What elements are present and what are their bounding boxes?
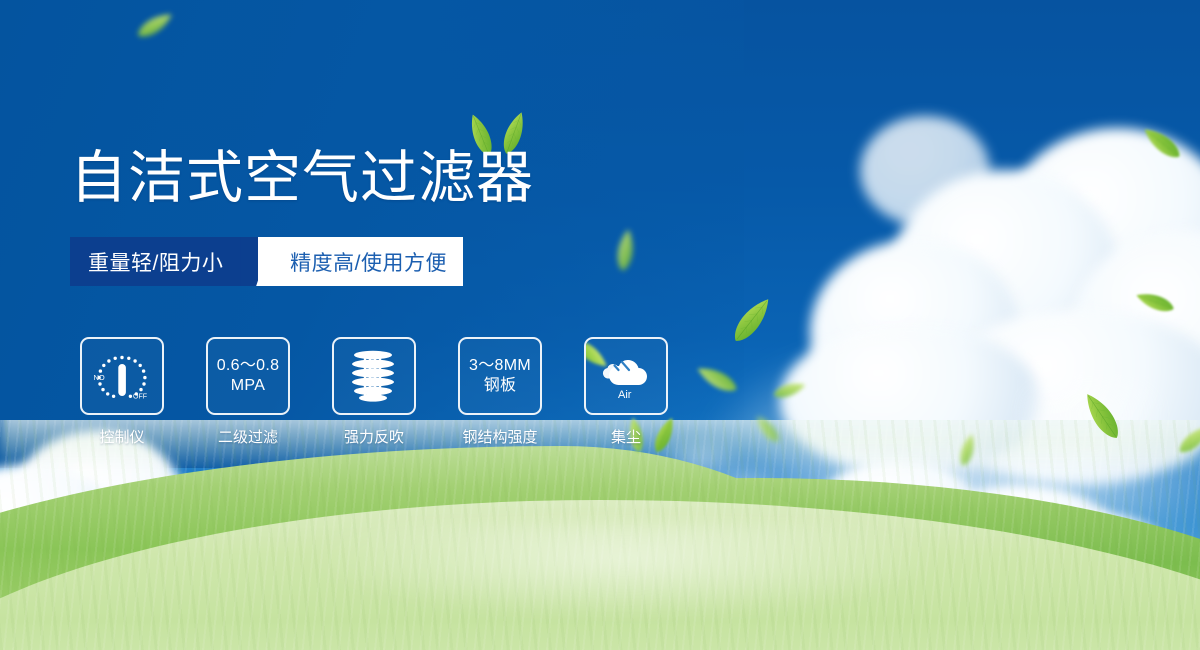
air-cloud-icon: Air	[595, 348, 657, 404]
feature-item-pressure[interactable]: 0.6〜0.8 MPA 二级过滤	[206, 337, 290, 447]
feature-icon-text-line1: 0.6〜0.8	[217, 356, 280, 376]
feature-icon-text-line2: MPA	[231, 376, 265, 396]
banner-content: 自洁式空气过滤器 重量轻/阻力小 精度高/使用方便	[0, 0, 1200, 650]
feature-item-blowback[interactable]: 强力反吹	[332, 337, 416, 447]
feature-item-control[interactable]: NO OFF 控制仪	[80, 337, 164, 447]
feature-icon-text-line1: 3〜8MM	[469, 356, 531, 376]
gauge-label-off: OFF	[133, 394, 147, 401]
feature-label: 强力反吹	[344, 426, 404, 447]
filter-cartridge-icon	[346, 347, 402, 405]
tagline-right-text: 精度高/使用方便	[290, 247, 447, 277]
feature-item-steel[interactable]: 3〜8MM 钢板 钢结构强度	[458, 337, 542, 447]
air-label: Air	[618, 389, 632, 401]
feature-item-dust[interactable]: Air 集尘	[584, 337, 668, 447]
page-title: 自洁式空气过滤器	[70, 147, 534, 209]
feature-label: 集尘	[611, 426, 641, 447]
gauge-icon: NO OFF	[90, 347, 154, 405]
gauge-label-no: NO	[94, 373, 105, 382]
feature-label: 二级过滤	[218, 426, 278, 447]
tagline-badge-left: 重量轻/阻力小	[70, 237, 258, 286]
feature-icon-box	[332, 337, 416, 415]
tagline-left-text: 重量轻/阻力小	[88, 247, 223, 277]
tagline-badge: 重量轻/阻力小 精度高/使用方便	[70, 237, 463, 286]
feature-label: 钢结构强度	[462, 426, 537, 447]
feature-icon-box: 0.6〜0.8 MPA	[206, 337, 290, 415]
feature-icon-box: Air	[584, 337, 668, 415]
product-banner: 自洁式空气过滤器 重量轻/阻力小 精度高/使用方便	[0, 0, 1200, 650]
feature-label: 控制仪	[99, 426, 144, 447]
tagline-badge-right: 精度高/使用方便	[258, 237, 463, 286]
feature-icon-text-line2: 钢板	[484, 376, 517, 396]
feature-list: NO OFF 控制仪 0.6〜0.8 MPA 二级过滤	[80, 337, 668, 447]
feature-icon-box: 3〜8MM 钢板	[458, 337, 542, 415]
feature-icon-box: NO OFF	[80, 337, 164, 415]
